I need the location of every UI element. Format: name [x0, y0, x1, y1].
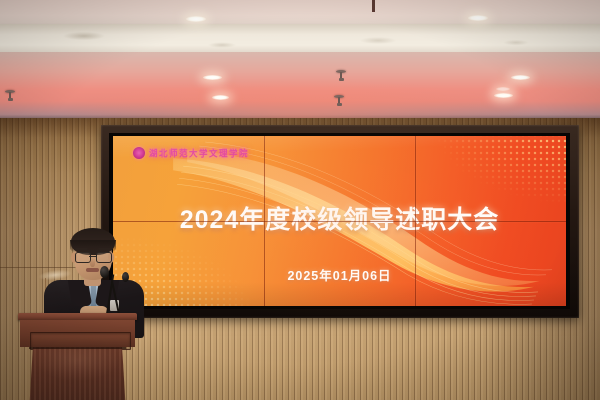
podium-base — [29, 347, 126, 400]
ceiling-downlight — [511, 75, 530, 80]
ceiling-downlight — [203, 75, 222, 80]
ceiling-downlight — [212, 95, 229, 100]
sprinkler-head-icon — [5, 90, 15, 101]
university-logo-text: 湖北师范大学文理学院 — [149, 146, 249, 159]
podium-front-panel — [20, 320, 135, 347]
speaker-nose — [90, 258, 95, 267]
speaker-eyebrow-left — [75, 248, 88, 250]
speaker-hair — [71, 228, 115, 255]
speaker-mouth — [86, 268, 99, 272]
sprinkler-head-icon — [336, 70, 346, 81]
ceiling-upper-slab — [0, 0, 600, 26]
conference-hall-photo: 湖北师范大学文理学院 2024年度校级领导述职大会 2025年01月06日 — [0, 0, 600, 400]
slide-title: 2024年度校级领导述职大会 — [113, 200, 566, 236]
ceiling-lower-soffit — [0, 52, 600, 120]
ceiling-downlight — [186, 16, 206, 22]
ceiling-downlight — [496, 87, 510, 91]
ceiling-downlight — [494, 93, 513, 98]
podium-top-ledge — [18, 313, 137, 320]
video-wall-frame: 湖北师范大学文理学院 2024年度校级领导述职大会 2025年01月06日 — [101, 125, 579, 318]
ceiling-hanger-rod — [372, 0, 375, 12]
university-logo: 湖北师范大学文理学院 — [133, 147, 249, 159]
ceiling-beam — [0, 24, 600, 54]
sprinkler-head-icon — [334, 95, 344, 106]
podium — [18, 313, 137, 400]
ceiling-downlight — [468, 15, 488, 21]
slide-date: 2025年01月06日 — [113, 265, 566, 284]
beam-stains — [0, 24, 600, 54]
speaker-eyebrow-right — [98, 248, 111, 250]
microphone-icon — [100, 266, 109, 278]
podium-base-edge — [29, 347, 126, 349]
university-seal-icon — [133, 147, 145, 159]
video-wall-screen[interactable]: 湖北师范大学文理学院 2024年度校级领导述职大会 2025年01月06日 — [113, 136, 566, 306]
microphone-icon-secondary — [122, 272, 129, 282]
